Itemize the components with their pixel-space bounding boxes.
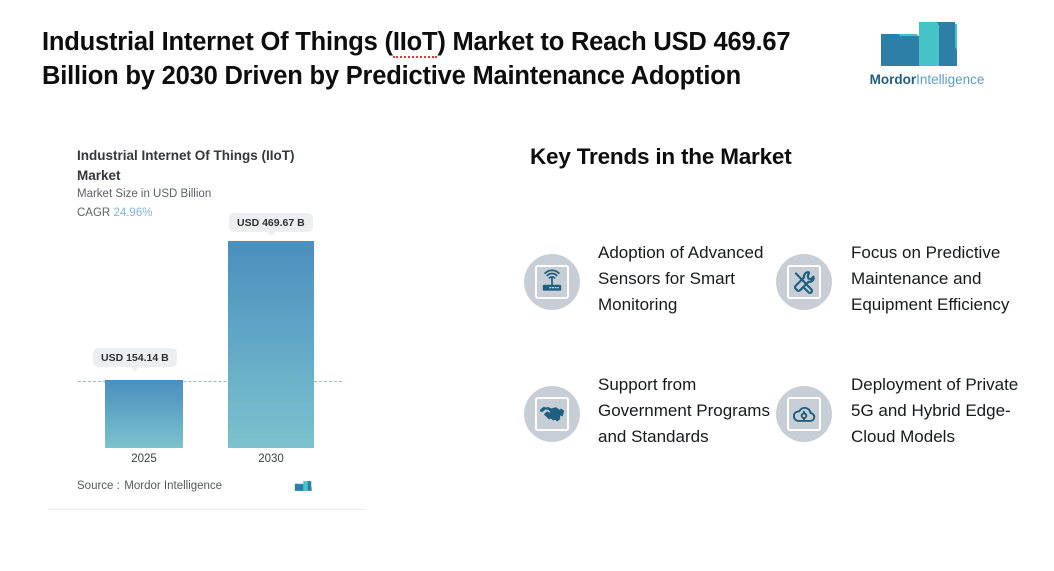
header: Industrial Internet Of Things (IIoT) Mar…: [0, 0, 1054, 112]
trend-item-sensors[interactable]: Adoption of Advanced Sensors for Smart M…: [524, 238, 774, 317]
source-label: Source :: [77, 480, 120, 492]
key-trends-heading: Key Trends in the Market: [530, 144, 792, 170]
headline-part-1: Industrial Internet Of Things (: [42, 28, 393, 56]
trend-label: Adoption of Advanced Sensors for Smart M…: [598, 238, 774, 317]
headline-highlight: IIoT: [393, 28, 438, 58]
trend-label: Deployment of Private 5G and Hybrid Edge…: [851, 370, 1032, 449]
trend-icon-circle: [524, 386, 580, 442]
page-title: Industrial Internet Of Things (IIoT) Mar…: [42, 26, 812, 94]
trend-label: Focus on Predictive Maintenance and Equi…: [851, 238, 1032, 317]
trend-icon-circle: [524, 254, 580, 310]
trend-icon-circle: [776, 254, 832, 310]
wrench-screwdriver-icon: [787, 265, 821, 299]
brand-logo: MordorIntelligence: [868, 20, 986, 92]
trend-label: Support from Government Programs and Sta…: [598, 370, 774, 449]
trend-item-predictive-maintenance[interactable]: Focus on Predictive Maintenance and Equi…: [776, 238, 1032, 317]
brand-name-light: Intelligence: [916, 72, 984, 87]
x-axis-label-2030: 2030: [228, 453, 314, 465]
mordor-m-logo-icon: [877, 20, 977, 68]
chart-source-row: Source : Mordor Intelligence: [77, 477, 339, 495]
handshake-icon: [535, 397, 569, 431]
cloud-sync-icon: [787, 397, 821, 431]
bar-chart-plot: USD 154.14 B USD 469.67 B 2025 2030: [48, 128, 366, 468]
infographic-page: Industrial Internet Of Things (IIoT) Mar…: [0, 0, 1054, 571]
bar-2030[interactable]: [228, 241, 314, 448]
market-size-chart-card: Industrial Internet Of Things (IIoT) Mar…: [48, 128, 366, 510]
bar-2025[interactable]: [105, 380, 183, 448]
source-logo: [294, 478, 316, 494]
trend-icon-circle: [776, 386, 832, 442]
trend-item-government-support[interactable]: Support from Government Programs and Sta…: [524, 370, 774, 449]
brand-wordmark: MordorIntelligence: [868, 72, 986, 87]
brand-name-bold: Mordor: [870, 72, 917, 87]
mordor-m-logo-small-icon: [294, 478, 316, 494]
bars-area: [48, 223, 366, 448]
source-value: Mordor Intelligence: [124, 480, 222, 492]
x-axis-label-2025: 2025: [105, 453, 183, 465]
wireless-router-icon: [535, 265, 569, 299]
trend-item-private-5g-cloud[interactable]: Deployment of Private 5G and Hybrid Edge…: [776, 370, 1032, 449]
